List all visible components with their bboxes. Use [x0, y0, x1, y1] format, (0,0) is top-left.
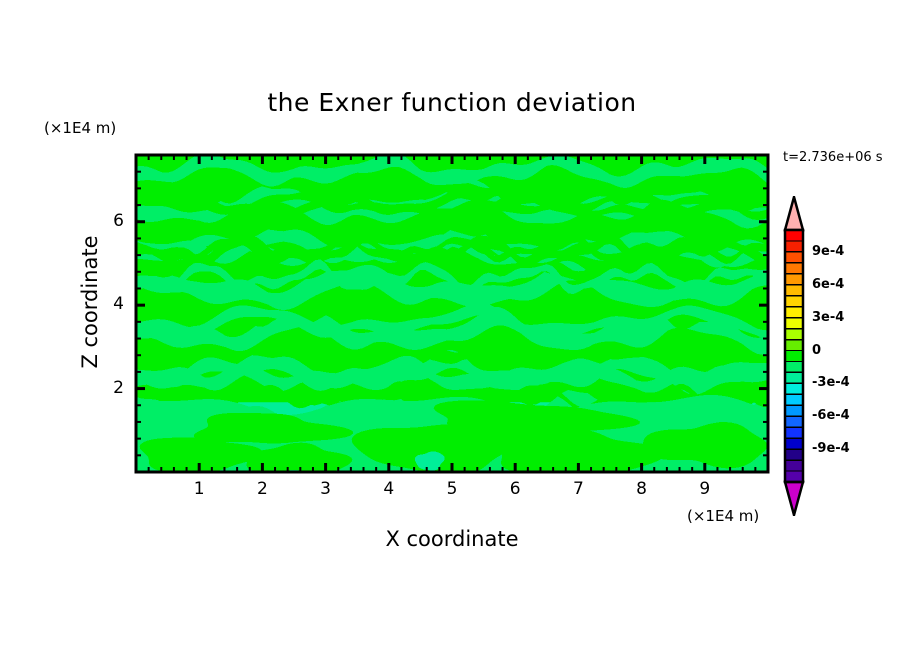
colorbar-tick-label: 3e-4 — [812, 310, 844, 325]
y-tick-label: 2 — [94, 378, 124, 398]
x-tick-label: 3 — [311, 479, 341, 499]
x-tick-label: 8 — [627, 479, 657, 499]
y-tick-label: 6 — [94, 211, 124, 231]
x-tick-label: 7 — [563, 479, 593, 499]
colorbar-tick-label: -6e-4 — [812, 408, 850, 423]
x-tick-label: 4 — [374, 479, 404, 499]
timestamp-annotation: t=2.736e+06 s — [783, 150, 883, 165]
x-tick-label: 1 — [184, 479, 214, 499]
x-axis-unit-label: (×1E4 m) — [687, 507, 759, 525]
contour-figure: the Exner function deviation (×1E4 m) (×… — [0, 0, 904, 654]
colorbar-tick-label: 6e-4 — [812, 277, 844, 292]
colorbar-tick-label: 9e-4 — [812, 244, 844, 259]
y-tick-label: 4 — [94, 294, 124, 314]
page-title: the Exner function deviation — [0, 88, 904, 117]
x-tick-label: 2 — [247, 479, 277, 499]
plot-frame — [130, 149, 776, 484]
y-axis-unit-label: (×1E4 m) — [44, 119, 116, 137]
x-tick-label: 6 — [500, 479, 530, 499]
x-tick-label: 5 — [437, 479, 467, 499]
colorbar-tick-label: -9e-4 — [812, 441, 850, 456]
x-axis-title: X coordinate — [136, 527, 768, 551]
colorbar — [776, 196, 812, 516]
colorbar-tick-label: 0 — [812, 343, 821, 358]
x-tick-label: 9 — [690, 479, 720, 499]
colorbar-tick-label: -3e-4 — [812, 375, 850, 390]
